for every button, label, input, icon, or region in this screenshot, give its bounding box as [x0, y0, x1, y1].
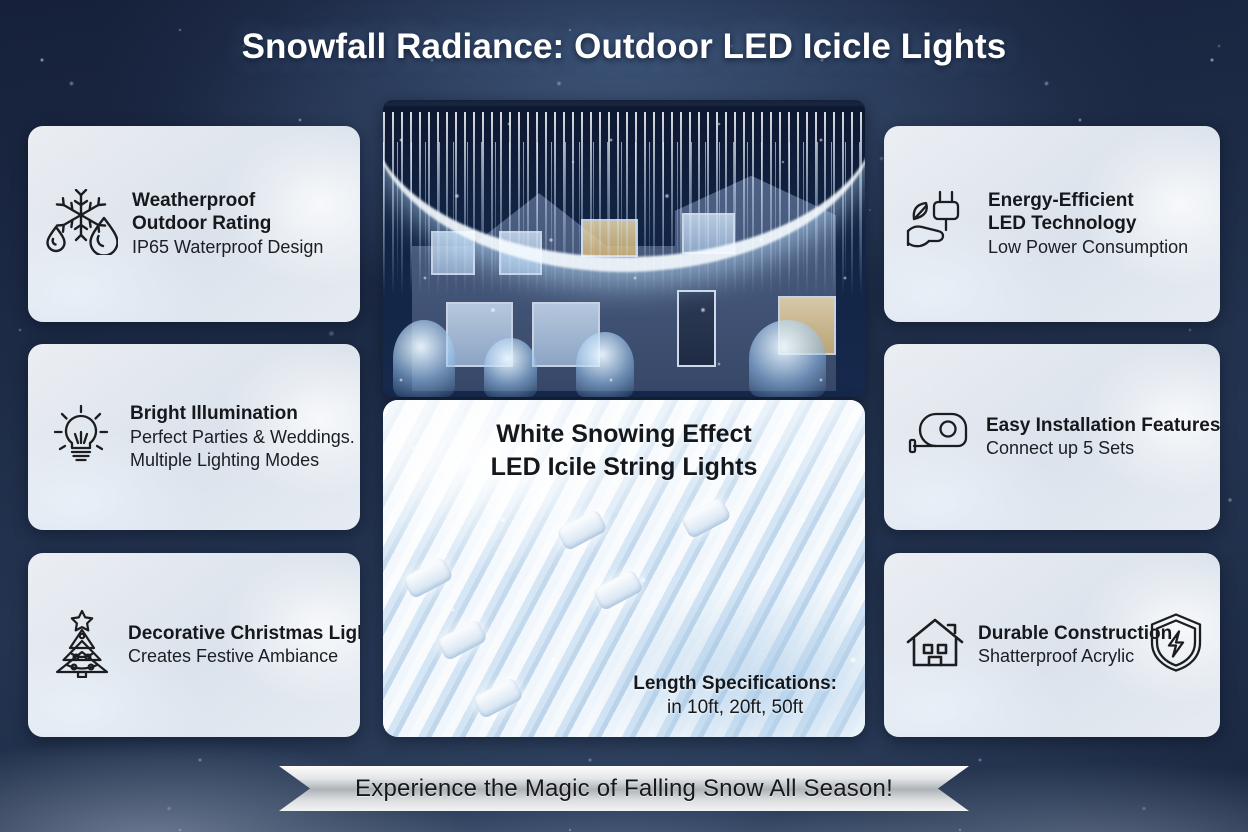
shield-bolt-icon [1148, 612, 1204, 679]
durable-line-1: Durable Construction [978, 622, 1172, 646]
weatherproof-line-1: Weatherproof [132, 189, 323, 213]
card-text-group: Decorative Christmas Lighting Creates Fe… [128, 622, 360, 669]
headline-line-1: White Snowing Effect [383, 418, 865, 451]
house-icon [904, 615, 966, 676]
card-text-group: Bright Illumination Perfect Parties & We… [130, 402, 355, 472]
page-title: Snowfall Radiance: Outdoor LED Icicle Li… [0, 27, 1248, 67]
length-specifications: Length Specifications: in 10ft, 20ft, 50… [633, 672, 837, 721]
hand-leaf-plug-icon [904, 188, 976, 261]
product-closeup-panel: White Snowing Effect LED Icile String Li… [383, 400, 865, 737]
feature-card-christmas-lighting: Decorative Christmas Lighting Creates Fe… [28, 553, 360, 737]
feature-card-bright-illumination: Bright Illumination Perfect Parties & We… [28, 344, 360, 530]
spec-value: in 10ft, 20ft, 50ft [633, 696, 837, 721]
energy-line-1: Energy-Efficient [988, 189, 1188, 213]
feature-card-easy-installation: Easy Installation Features Connect up 5 … [884, 344, 1220, 530]
ribbon-text: Experience the Magic of Falling Snow All… [355, 775, 893, 803]
card-text-group: Energy-Efficient LED Technology Low Powe… [988, 189, 1188, 260]
weatherproof-line-2: Outdoor Rating [132, 212, 323, 236]
card-text-group: Easy Installation Features Connect up 5 … [986, 414, 1220, 461]
feature-card-weatherproof: Weatherproof Outdoor Rating IP65 Waterpr… [28, 126, 360, 322]
lightbulb-icon [48, 402, 114, 473]
feature-card-durable-construction: Durable Construction Shatterproof Acryli… [884, 553, 1220, 737]
energy-line-3: Low Power Consumption [988, 236, 1188, 259]
bottom-ribbon-banner: Experience the Magic of Falling Snow All… [279, 766, 969, 811]
product-headline: White Snowing Effect LED Icile String Li… [383, 418, 865, 483]
christmas-line-1: Decorative Christmas Lighting [128, 622, 360, 646]
bright-line-3: Multiple Lighting Modes [130, 449, 355, 472]
install-line-2: Connect up 5 Sets [986, 437, 1220, 460]
spec-label: Length Specifications: [633, 672, 837, 697]
christmas-line-2: Creates Festive Ambiance [128, 645, 360, 668]
durable-line-2: Shatterproof Acrylic [978, 645, 1172, 668]
card-text-group: Durable Construction Shatterproof Acryli… [978, 622, 1172, 669]
headline-line-2: LED Icile String Lights [383, 451, 865, 484]
energy-line-2: LED Technology [988, 212, 1188, 236]
tape-measure-icon [908, 408, 972, 467]
house-with-icicle-lights-photo [383, 100, 865, 397]
christmas-tree-icon [50, 608, 114, 683]
snowflake-waterdrop-icon [44, 189, 118, 260]
weatherproof-line-3: IP65 Waterproof Design [132, 236, 323, 259]
card-text-group: Weatherproof Outdoor Rating IP65 Waterpr… [132, 189, 323, 260]
sparkle-overlay [383, 100, 865, 397]
feature-card-energy-efficient: Energy-Efficient LED Technology Low Powe… [884, 126, 1220, 322]
infographic-canvas: Snowfall Radiance: Outdoor LED Icicle Li… [0, 0, 1248, 832]
bright-line-1: Bright Illumination [130, 402, 355, 426]
install-line-1: Easy Installation Features [986, 414, 1220, 438]
bright-line-2: Perfect Parties & Weddings. [130, 426, 355, 449]
